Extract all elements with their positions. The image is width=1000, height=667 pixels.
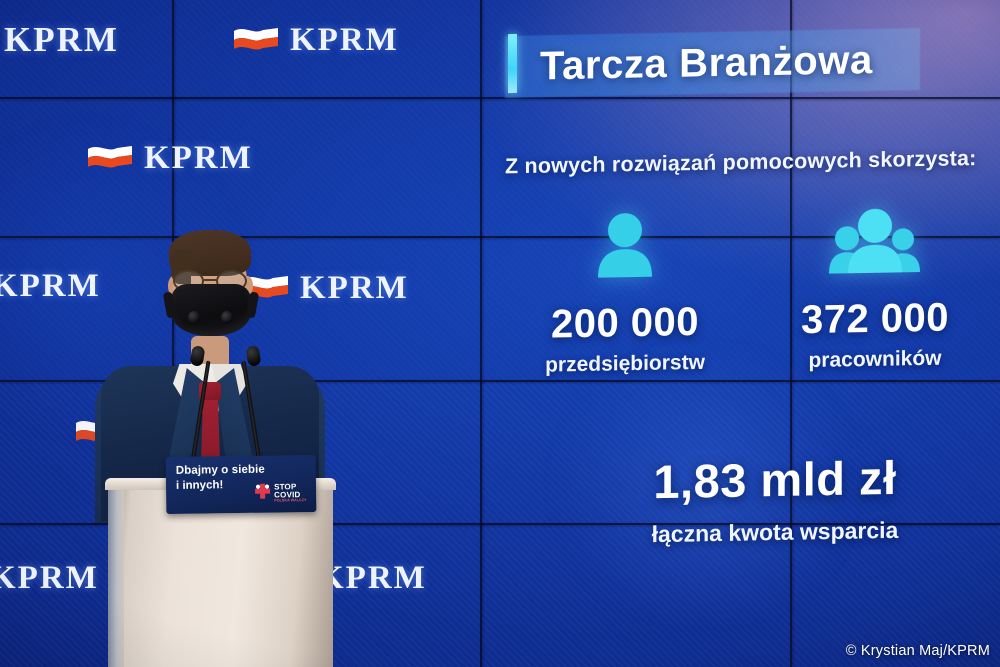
press-conference-screenshot: KPRM KPRM KPRM KPRM KPRM bbox=[0, 0, 1000, 667]
photo-credit: © Krystian Maj/KPRM bbox=[846, 643, 990, 659]
vignette-overlay bbox=[0, 0, 1000, 667]
